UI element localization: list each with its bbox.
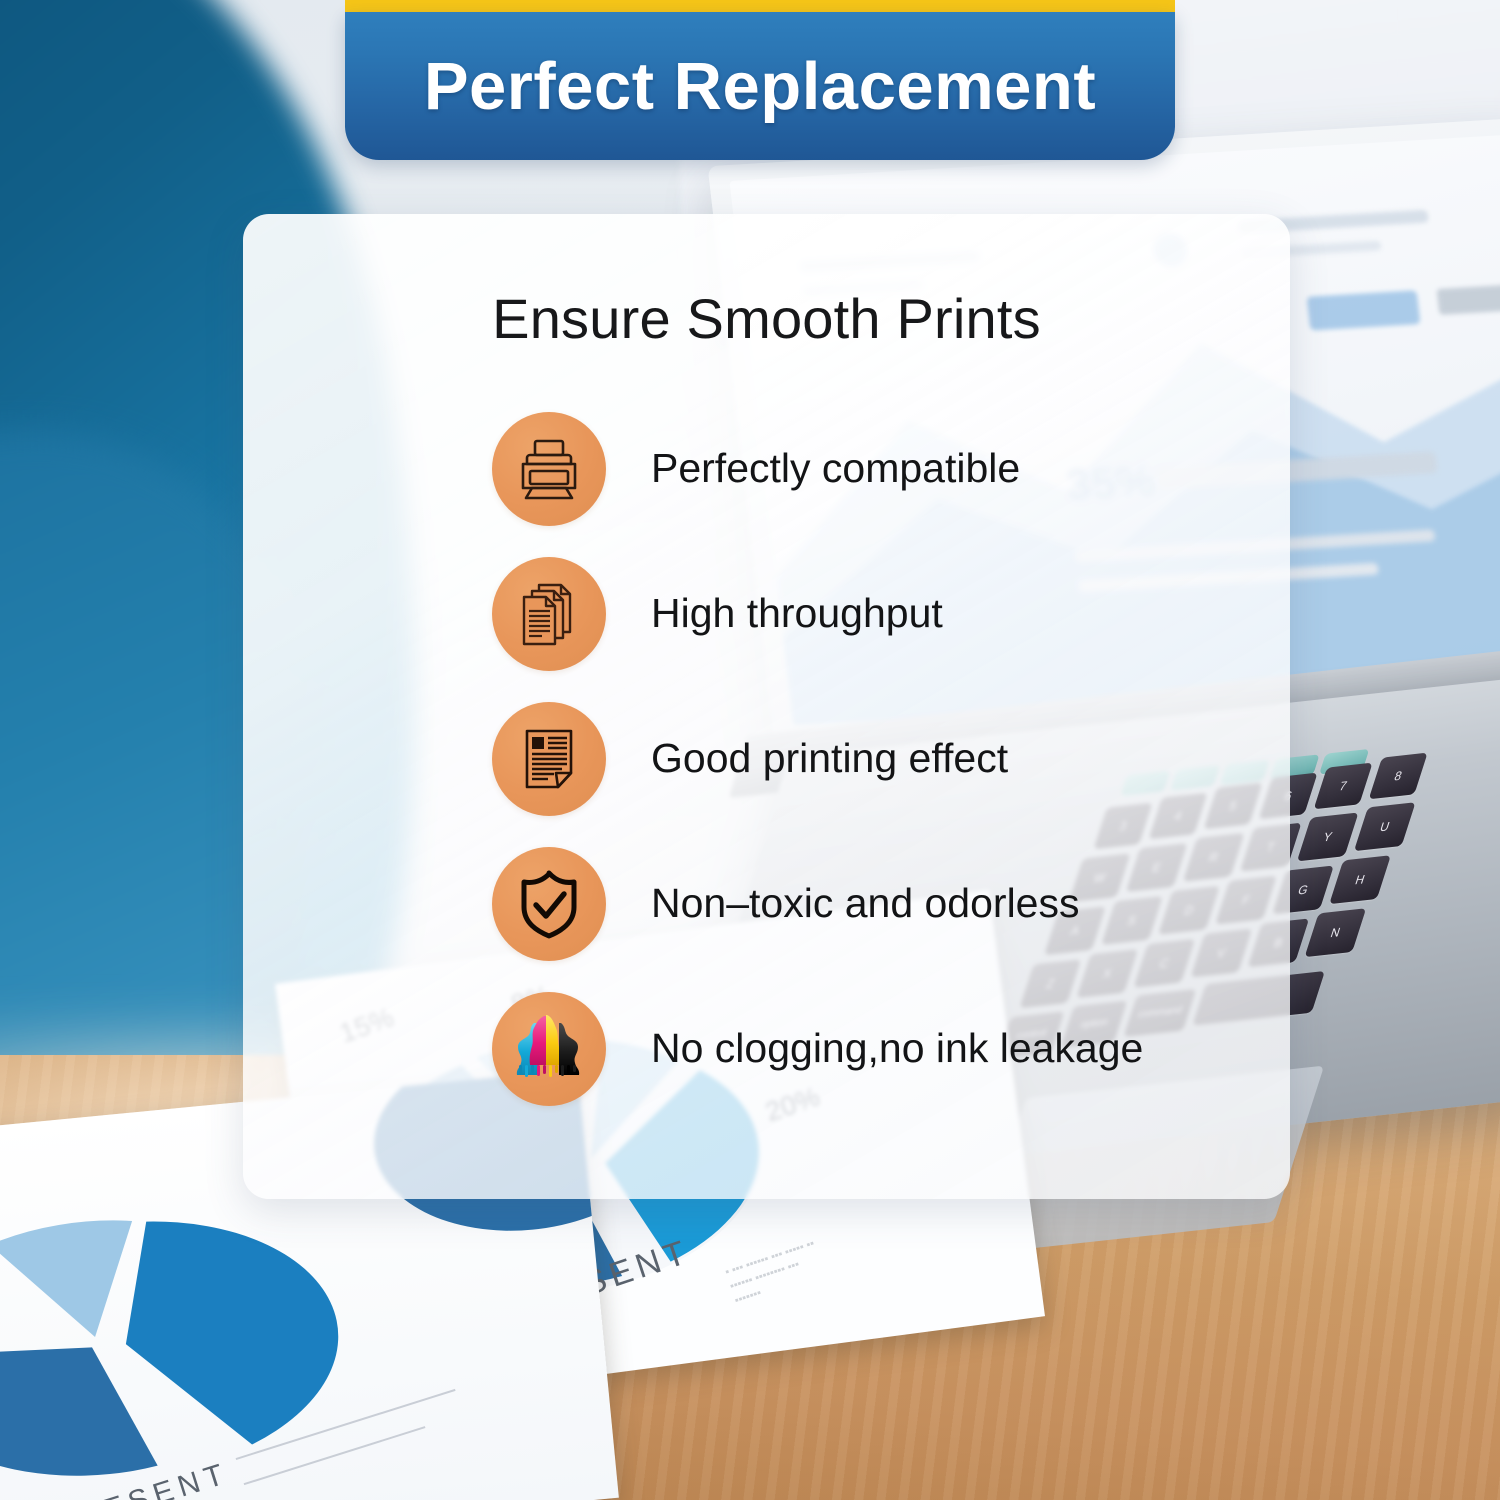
feature-row: Perfectly compatible (243, 396, 1290, 541)
feature-row: High throughput (243, 541, 1290, 686)
feature-label: Non–toxic and odorless (651, 880, 1079, 927)
feature-label: Perfectly compatible (651, 445, 1020, 492)
panel-title: Ensure Smooth Prints (243, 286, 1290, 351)
documents-stack-icon (492, 557, 606, 671)
product-marketing-image: 35% 3 4 5 6 7 8 W E R (0, 0, 1500, 1500)
document-curl-icon (492, 702, 606, 816)
feature-label: High throughput (651, 590, 943, 637)
feature-row: Good printing effect (243, 686, 1290, 831)
cmyk-ink-splash-icon (492, 992, 606, 1106)
feature-label: No clogging,no ink leakage (651, 1025, 1143, 1072)
shield-check-icon (492, 847, 606, 961)
printer-icon (492, 412, 606, 526)
feature-row: No clogging,no ink leakage (243, 976, 1290, 1121)
feature-label: Good printing effect (651, 735, 1008, 782)
header-banner: Perfect Replacement (345, 12, 1175, 160)
feature-row: Non–toxic and odorless (243, 831, 1290, 976)
feature-list: Perfectly compatible High throug (243, 396, 1290, 1121)
banner-title: Perfect Replacement (424, 48, 1096, 125)
